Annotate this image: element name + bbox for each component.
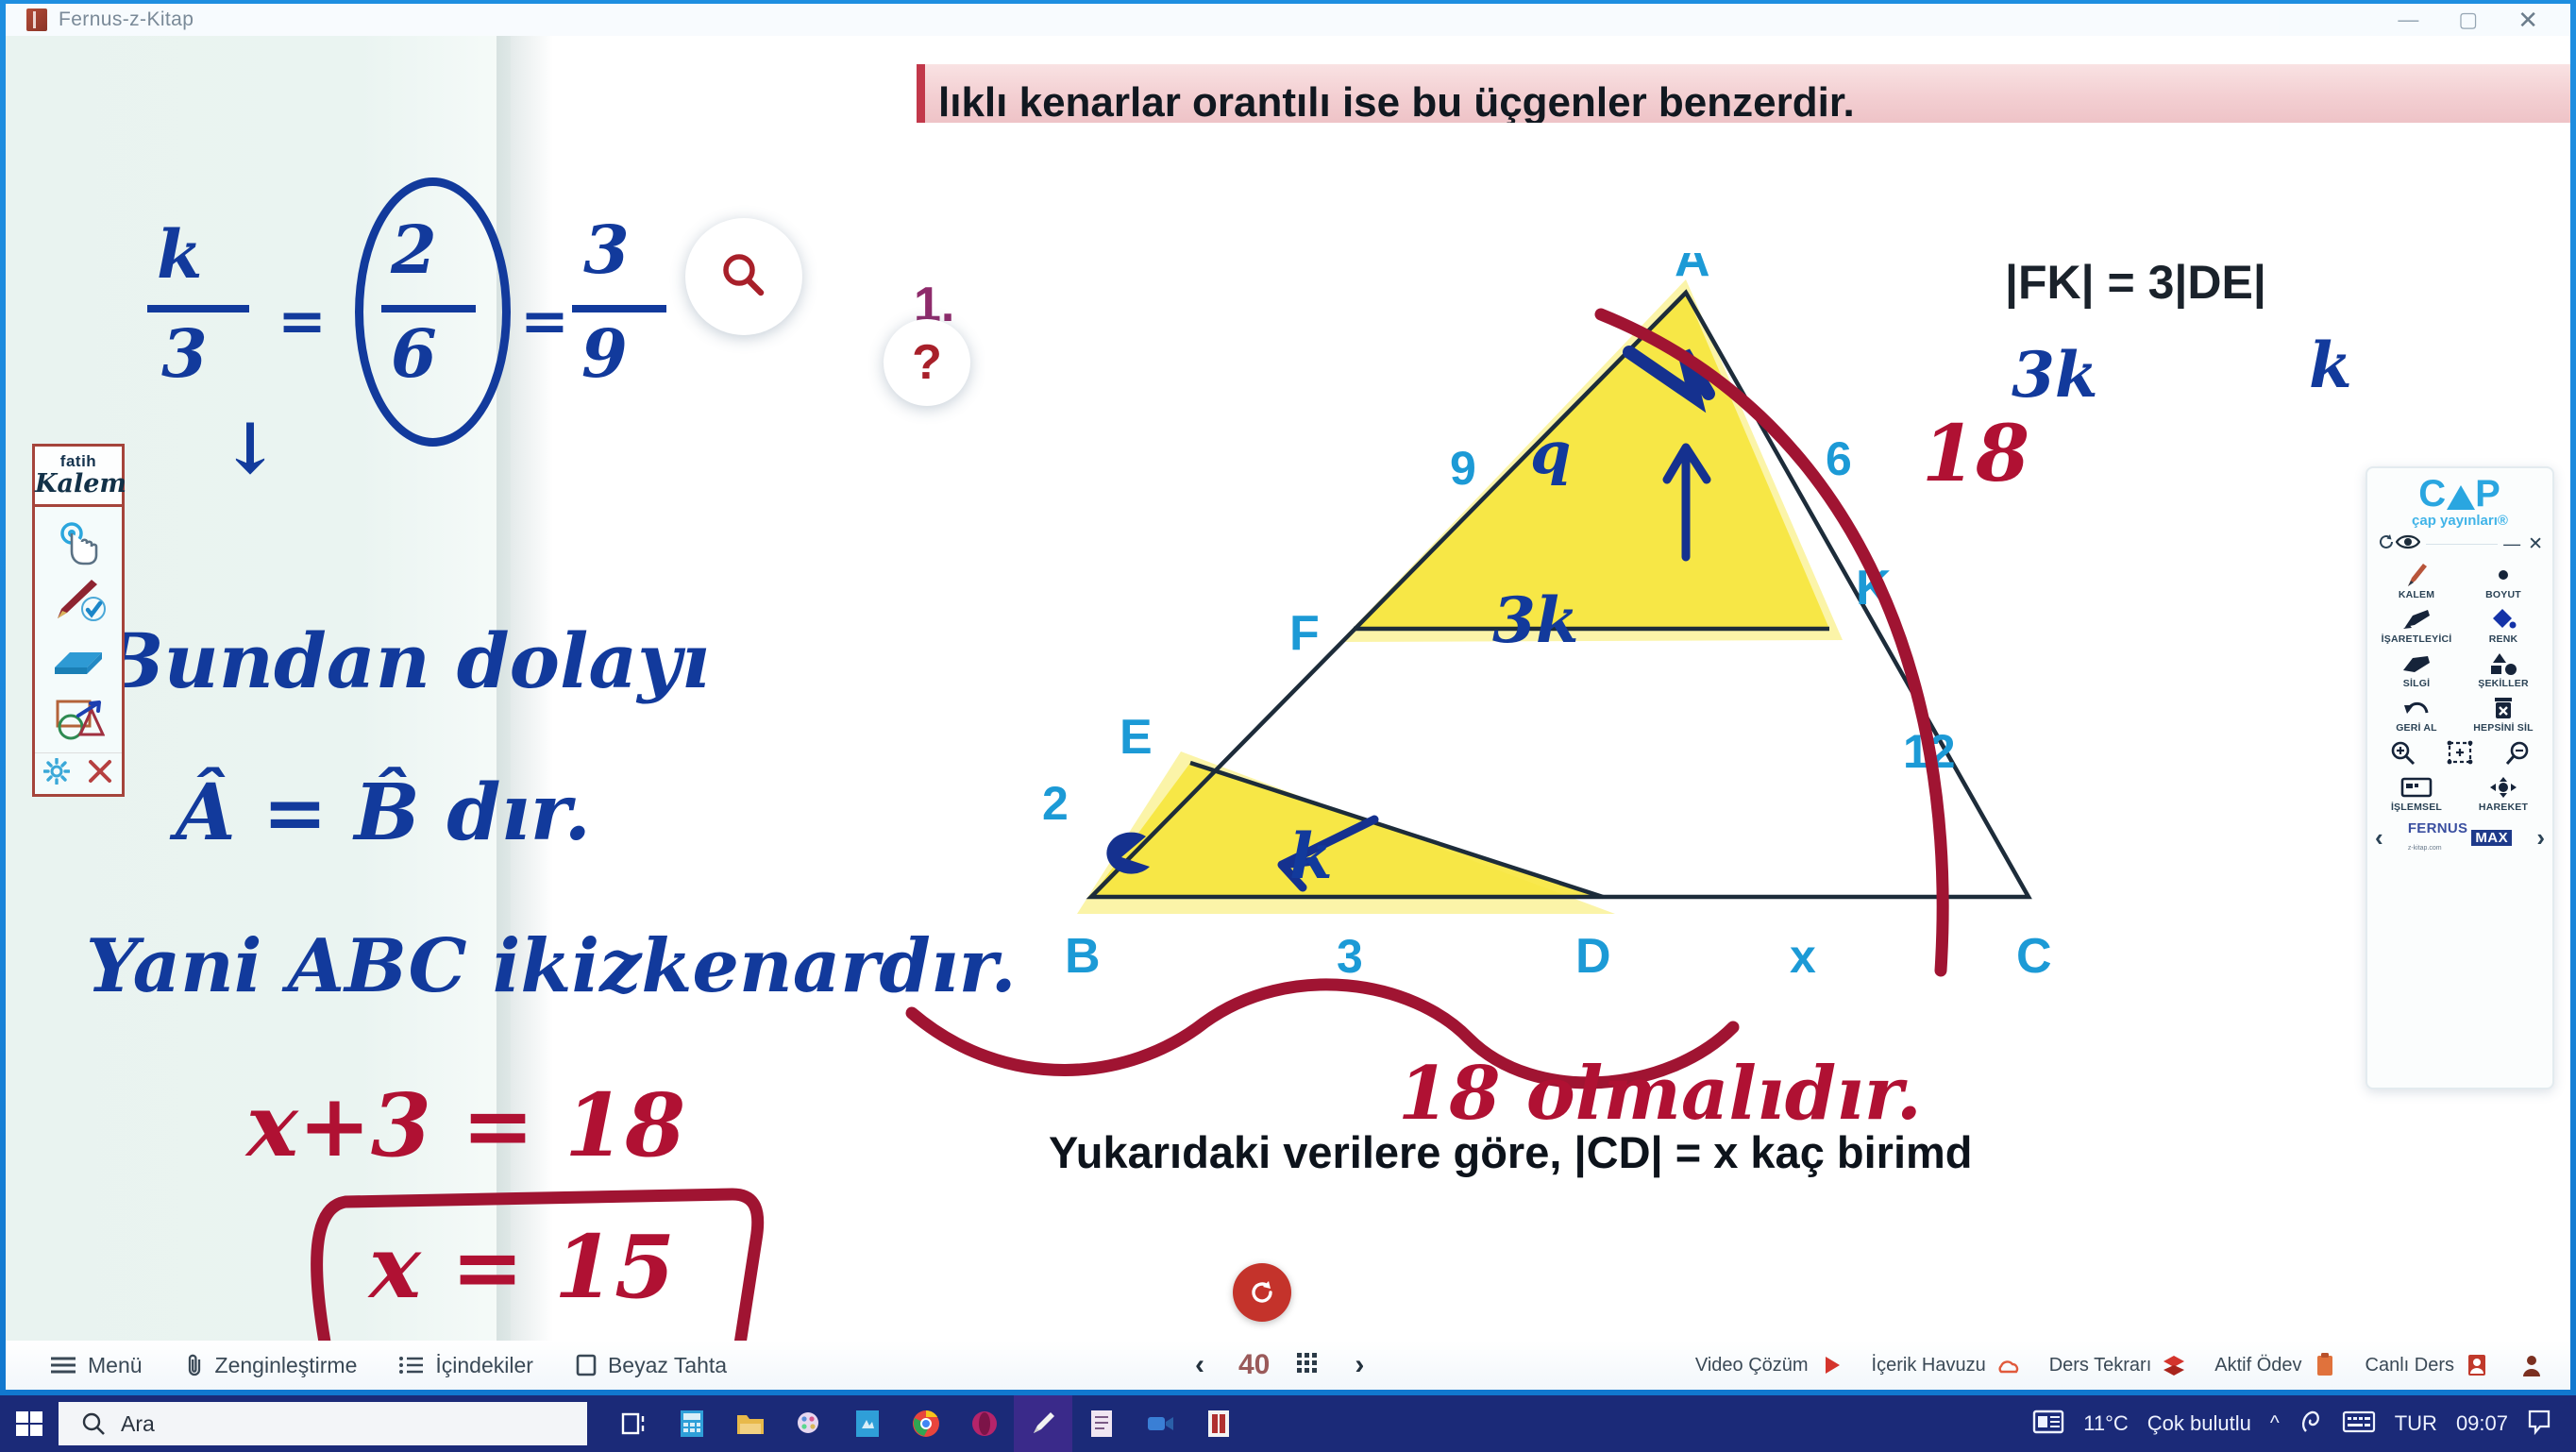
operation-icon — [2373, 773, 2460, 802]
appbar-item-menu[interactable]: Menü — [28, 1353, 163, 1378]
hand-note-k-low: k — [1289, 819, 1333, 893]
window-title: Fernus-z-Kitap — [59, 8, 194, 31]
pen-brand-top: fatih — [35, 452, 122, 471]
pen-icon[interactable] — [35, 573, 122, 632]
keyboard-icon[interactable] — [2342, 1410, 2376, 1439]
cap-logo-triangle — [2447, 485, 2475, 510]
appbar-left-group: Menü Zenginleştirme İçindekiler — [6, 1353, 748, 1378]
user-icon — [2517, 1351, 2546, 1379]
maximize-button[interactable]: ▢ — [2458, 9, 2478, 30]
page-navigation: ‹ 40 › — [1186, 1349, 1373, 1381]
appbar-item-icerik-havuzu[interactable]: İçerik Havuzu — [1859, 1351, 2036, 1379]
appbar-item-ders-tekrari[interactable]: Ders Tekrarı — [2036, 1351, 2202, 1379]
hand-note-3k-top: 3k — [2012, 338, 2098, 412]
pen-brand-bottom: Kalem — [35, 471, 122, 497]
notes-icon[interactable] — [1072, 1395, 1131, 1452]
tray-temperature: 11°C — [2083, 1411, 2129, 1436]
vertex-label-E: E — [1120, 710, 1153, 765]
magnifier-icon[interactable] — [685, 218, 802, 335]
highlight-triangle-afk-glow — [1339, 279, 1843, 642]
appbar-label-zenginlestirme: Zenginleştirme — [215, 1353, 358, 1378]
given-statement: |FK| = 3|DE| — [2005, 255, 2266, 310]
cap-zoom-row — [2373, 739, 2547, 770]
appbar-label-canli-ders: Canlı Ders — [2366, 1355, 2454, 1376]
cap-logo-subtitle: çap yayınları® — [2373, 513, 2547, 529]
hand-note-q: q — [1530, 418, 1571, 487]
tray-chevron-icon[interactable]: ^ — [2270, 1412, 2280, 1435]
shapes-glyph — [52, 697, 105, 742]
hand-fraction-bar-3 — [572, 229, 666, 312]
eraser-icon — [2373, 650, 2460, 678]
pencil-icon — [2373, 561, 2460, 589]
refresh-glyph — [2377, 532, 2396, 551]
hand-equals-1: = — [278, 286, 327, 355]
fernus-brand-sub: z-kitap.com — [2408, 845, 2442, 852]
close-icon[interactable] — [87, 758, 113, 789]
cap-divider — [2426, 544, 2498, 545]
appbar-label-icerik-havuzu: İçerik Havuzu — [1872, 1355, 1986, 1376]
chrome-icon[interactable] — [897, 1395, 955, 1452]
vertex-label-A: A — [1675, 253, 1710, 287]
appbar-item-video-cozum[interactable]: Video Çözüm — [1682, 1351, 1859, 1379]
hamburger-icon — [49, 1355, 77, 1376]
cap-tool-sekiller[interactable]: ŞEKİLLER — [2460, 649, 2547, 691]
eraser-icon[interactable] — [35, 632, 122, 690]
appbar-item-icindekiler[interactable]: İçindekiler — [378, 1353, 554, 1378]
cap-tool-grid: KALEM BOYUT İŞARETLEYİCİ — [2373, 560, 2547, 735]
pen-app-icon[interactable] — [1014, 1395, 1072, 1452]
hand-note-9: 9 — [581, 314, 628, 393]
theory-banner: lıklı kenarlar orantılı ise bu üçgenler … — [917, 64, 2570, 123]
hand-fraction-bar-1 — [147, 229, 249, 312]
undo-icon — [2373, 694, 2460, 722]
side-label-6: 6 — [1826, 432, 1852, 485]
cap-tool-boyut[interactable]: BOYUT — [2460, 560, 2547, 602]
page-next-button[interactable]: › — [1345, 1349, 1373, 1381]
paint-bucket-icon — [2460, 605, 2547, 633]
cloud-icon — [1995, 1351, 2023, 1379]
appbar-item-user[interactable] — [2504, 1351, 2559, 1379]
paint-icon[interactable] — [780, 1395, 838, 1452]
appbar-right-group: Video Çözüm İçerik Havuzu Ders Tekrarı — [1682, 1351, 2559, 1379]
hand-note-3k-mid: 3k — [1492, 583, 1579, 657]
hand-note-equation: x+3 = 18 — [246, 1074, 685, 1176]
windows-glyph — [15, 1410, 43, 1438]
grid-icon[interactable] — [1294, 1350, 1321, 1381]
gear-glyph — [43, 758, 70, 785]
cap-next-button[interactable]: › — [2536, 823, 2545, 853]
cap-footer: ‹ FERNUS z-kitap.com MAX › — [2373, 820, 2547, 854]
vertex-label-F: F — [1289, 606, 1320, 661]
book-app-icon[interactable] — [1189, 1395, 1248, 1452]
system-tray: 11°C Çok bulutlu ^ TUR 09:07 — [2032, 1409, 2576, 1440]
cap-logo-text: CP — [2373, 476, 2547, 512]
appbar-item-aktif-odev[interactable]: Aktif Ödev — [2201, 1351, 2351, 1379]
dot-size-icon — [2460, 561, 2547, 589]
paperclip-icon — [184, 1353, 205, 1377]
hand-equals-2: = — [520, 286, 569, 355]
hand-note-olmalidir: 18 olmalıdır. — [1398, 1051, 1922, 1137]
vertex-label-K: K — [1856, 561, 1892, 616]
appbar-label-menu: Menü — [88, 1353, 143, 1378]
cap-tool-geri-al[interactable]: GERİ AL — [2373, 693, 2460, 735]
zoom-out-icon[interactable] — [2504, 739, 2531, 770]
cap-tool-hepsini-sil[interactable]: HEPSİNİ SİL — [2460, 693, 2547, 735]
cap-tool-kalem[interactable]: KALEM — [2373, 560, 2460, 602]
cap-label-hareket: HAREKET — [2460, 802, 2547, 813]
hand-touch-glyph — [54, 519, 103, 568]
magnifier-glyph — [716, 248, 772, 305]
cap-tool-isaretleyici[interactable]: İŞARETLEYİCİ — [2373, 604, 2460, 647]
cap-label-renk: RENK — [2460, 633, 2547, 645]
side-label-x: x — [1790, 930, 1816, 983]
close-button[interactable]: ✕ — [2517, 8, 2538, 32]
select-area-icon[interactable] — [2447, 740, 2473, 769]
eraser-glyph — [49, 642, 108, 680]
windows-icon[interactable] — [0, 1395, 59, 1452]
cap-tool-islemsel[interactable]: İŞLEMSEL — [2373, 772, 2460, 815]
search-input[interactable]: Ara — [59, 1402, 587, 1445]
side-label-3: 3 — [1337, 930, 1363, 983]
cap-label-silgi: SİLGİ — [2373, 678, 2460, 689]
pen-toolbar-brand: fatih Kalem — [35, 447, 122, 507]
hand-note-18-red: 18 — [1922, 409, 2029, 499]
tray-clock[interactable]: 09:07 — [2456, 1411, 2508, 1436]
application-window: Fernus-z-Kitap — ▢ ✕ lıklı kenarlar oran… — [0, 0, 2576, 1395]
move-icon — [2460, 773, 2547, 802]
question-prompt: Yukarıdaki verilere göre, |CD| = x kaç b… — [1049, 1126, 1973, 1178]
cap-tool-grid-2: İŞLEMSEL HAREKET — [2373, 772, 2547, 815]
cap-prev-button[interactable]: ‹ — [2375, 823, 2383, 853]
notification-icon[interactable] — [2527, 1409, 2551, 1440]
list-icon — [398, 1355, 425, 1376]
cap-tool-silgi[interactable]: SİLGİ — [2373, 649, 2460, 691]
cap-logo: CP çap yayınları® — [2373, 476, 2547, 529]
cap-label-hepsini-sil: HEPSİNİ SİL — [2460, 722, 2547, 734]
hand-note-3: 3 — [161, 314, 208, 393]
hand-touch-icon[interactable] — [35, 515, 122, 573]
refresh-icon[interactable] — [2377, 532, 2396, 556]
theory-banner-text: lıklı kenarlar orantılı ise bu üçgenler … — [925, 79, 1855, 123]
shapes-icon — [2460, 650, 2547, 678]
page-prev-button[interactable]: ‹ — [1186, 1349, 1214, 1381]
shapes-icon[interactable] — [35, 690, 122, 749]
appbar-label-icindekiler: İçindekiler — [435, 1353, 533, 1378]
cap-label-kalem: KALEM — [2373, 589, 2460, 600]
geometry-diagram: A B C F K E D 9 6 12 2 3 x — [1025, 253, 2158, 1065]
cap-label-islemsel: İŞLEMSEL — [2373, 802, 2460, 813]
app-icon — [26, 8, 47, 31]
vertex-label-D: D — [1575, 929, 1611, 984]
task-view-icon[interactable] — [604, 1395, 663, 1452]
play-icon — [1817, 1351, 1845, 1379]
hand-note-a-equals-b: Â = B̂ dır. — [176, 768, 591, 858]
appbar-label-video-cozum: Video Çözüm — [1695, 1355, 1809, 1376]
appbar-item-canli-ders[interactable]: Canlı Ders — [2352, 1351, 2504, 1379]
marker-icon — [2373, 605, 2460, 633]
window-controls: — ▢ ✕ — [2398, 8, 2570, 32]
whiteboard-icon — [575, 1353, 598, 1377]
person-icon — [2463, 1351, 2491, 1379]
fernus-max-logo: FERNUS z-kitap.com MAX — [2408, 820, 2512, 854]
cap-tool-renk[interactable]: RENK — [2460, 604, 2547, 647]
vertex-label-C: C — [2016, 929, 2052, 984]
pen-glyph — [50, 579, 107, 626]
pen-toolbar-tools — [35, 507, 122, 752]
eye-glyph — [2396, 533, 2420, 550]
side-label-12: 12 — [1903, 725, 1956, 778]
pen-toolbar-footer — [35, 752, 122, 794]
file-explorer-icon[interactable] — [721, 1395, 780, 1452]
hand-note-ikizkenar: Yani ABC ikizkenardır. — [86, 923, 1017, 1009]
book-appbar: Menü Zenginleştirme İçindekiler — [6, 1341, 2570, 1390]
hand-note-answer: x = 15 — [369, 1216, 675, 1318]
cap-tool-panel[interactable]: CP çap yayınları® — [2366, 466, 2554, 1089]
appbar-label-ders-tekrari: Ders Tekrarı — [2049, 1355, 2152, 1376]
max-badge: MAX — [2471, 830, 2512, 846]
tray-weather: Çok bulutlu — [2147, 1411, 2251, 1436]
question-mark-icon[interactable]: ? — [884, 319, 970, 406]
cap-label-geri-al: GERİ AL — [2373, 722, 2460, 734]
side-label-2: 2 — [1042, 777, 1069, 830]
book-page[interactable]: lıklı kenarlar orantılı ise bu üçgenler … — [6, 36, 2570, 1341]
fatih-pen-toolbar[interactable]: fatih Kalem — [32, 444, 125, 797]
cap-close-button[interactable]: ✕ — [2528, 533, 2543, 555]
taskbar-apps — [604, 1395, 1248, 1452]
network-icon[interactable] — [2298, 1409, 2323, 1440]
close-glyph — [87, 758, 113, 785]
tray-language[interactable]: TUR — [2395, 1411, 2437, 1436]
clipboard-icon — [2311, 1351, 2339, 1379]
hand-ellipse-highlight — [355, 177, 511, 447]
fernus-brand: FERNUS — [2408, 820, 2467, 836]
refresh-icon — [1246, 1276, 1278, 1308]
appbar-label-aktif-odev: Aktif Ödev — [2214, 1355, 2301, 1376]
news-icon[interactable] — [2032, 1409, 2064, 1440]
titlebar: Fernus-z-Kitap — ▢ ✕ — [6, 4, 2570, 36]
page-number: 40 — [1238, 1349, 1270, 1381]
zoom-in-icon[interactable] — [2389, 739, 2416, 770]
appbar-item-zenginlestirme[interactable]: Zenginleştirme — [163, 1353, 379, 1378]
vertex-label-B: B — [1065, 929, 1101, 984]
hand-arrow-down: ↓ — [221, 409, 279, 490]
grid-glyph — [1294, 1350, 1321, 1376]
zoom-app-icon[interactable] — [1131, 1395, 1189, 1452]
minimize-button[interactable]: — — [2398, 9, 2418, 30]
reset-page-button[interactable] — [1233, 1263, 1291, 1322]
windows-taskbar: Ara — [0, 1395, 2576, 1452]
cap-label-isaretleyici: İŞARETLEYİCİ — [2373, 633, 2460, 645]
cap-tool-hareket[interactable]: HAREKET — [2460, 772, 2547, 815]
appbar-label-beyaz-tahta: Beyaz Tahta — [608, 1353, 727, 1378]
trash-icon — [2460, 694, 2547, 722]
cap-label-sekiller: ŞEKİLLER — [2460, 678, 2547, 689]
cap-window-controls: — ✕ — [2373, 529, 2547, 558]
store-icon[interactable] — [838, 1395, 897, 1452]
calculator-icon[interactable] — [663, 1395, 721, 1452]
opera-icon[interactable] — [955, 1395, 1014, 1452]
side-label-9: 9 — [1450, 442, 1476, 495]
cap-minimize-button[interactable]: — — [2503, 539, 2520, 549]
search-placeholder: Ara — [121, 1411, 155, 1437]
layers-icon — [2160, 1351, 2188, 1379]
hand-note-bundan-dolayi: Bundan dolayı — [100, 616, 710, 705]
cap-label-boyut: BOYUT — [2460, 589, 2547, 600]
hand-note-k-top: k — [2309, 329, 2352, 402]
appbar-item-beyaz-tahta[interactable]: Beyaz Tahta — [554, 1353, 748, 1378]
search-icon — [81, 1411, 106, 1436]
gear-icon[interactable] — [43, 758, 70, 789]
eye-icon[interactable] — [2396, 533, 2420, 555]
